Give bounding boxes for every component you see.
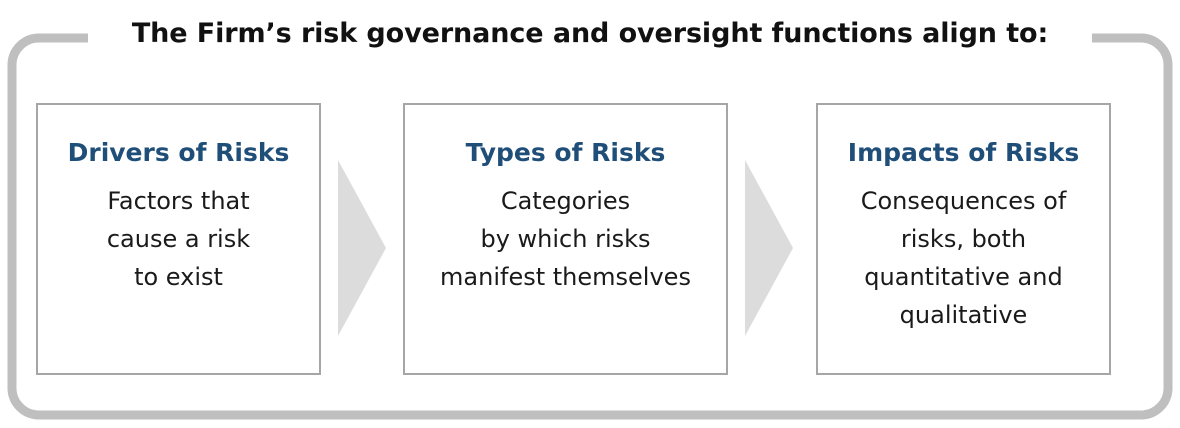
risk-box-heading: Types of Risks [405,138,726,168]
risk-box-body: Categories by which risks manifest thems… [405,182,726,296]
risk-box-impacts[interactable]: Impacts of Risks Consequences of risks, … [816,103,1111,375]
risk-box-body: Consequences of risks, both quantitative… [818,182,1109,334]
flow-stage: Drivers of Risks Factors that cause a ri… [0,0,1180,428]
risk-box-types[interactable]: Types of Risks Categories by which risks… [403,103,728,375]
arrow-right-icon-1 [338,160,386,336]
risk-box-heading: Impacts of Risks [818,138,1109,168]
risk-box-drivers[interactable]: Drivers of Risks Factors that cause a ri… [36,103,321,375]
risk-box-heading: Drivers of Risks [38,138,319,168]
diagram-canvas: The Firm’s risk governance and oversight… [0,0,1180,428]
arrow-right-icon-2 [745,160,793,336]
risk-box-body: Factors that cause a risk to exist [38,182,319,296]
